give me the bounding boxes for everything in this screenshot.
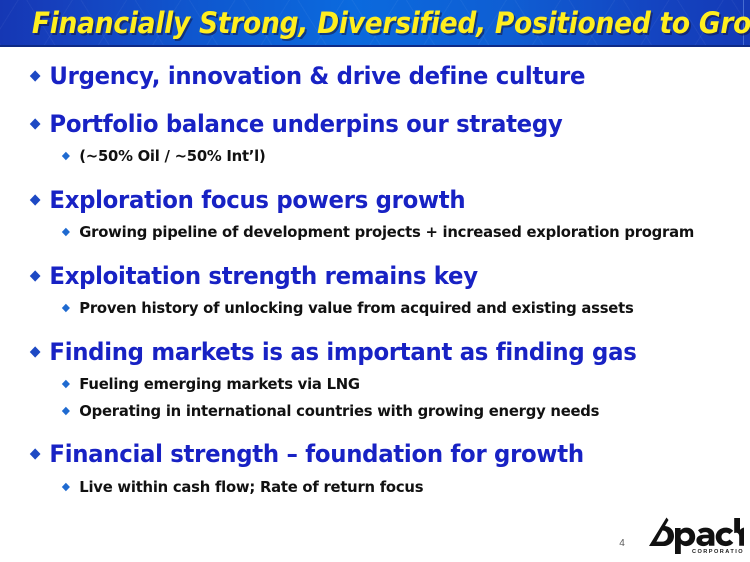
bullet-level2-label: (~50% Oil / ~50% Int’l) <box>79 147 265 165</box>
diamond-subbullet-icon <box>62 152 70 160</box>
bullet-level2: Live within cash flow; Rate of return fo… <box>0 476 716 498</box>
diamond-bullet-icon <box>30 118 41 129</box>
apache-corporation-logo: CORPORATION <box>646 516 744 556</box>
slide: Financially Strong, Diversified, Positio… <box>0 0 750 562</box>
bullet-level2-label: Fueling emerging markets via LNG <box>79 375 360 393</box>
page-title: Financially Strong, Diversified, Positio… <box>32 3 718 43</box>
bullet-group: Urgency, innovation & drive define cultu… <box>0 61 750 91</box>
bullet-level2-label: Proven history of unlocking value from a… <box>79 299 633 317</box>
bullet-level1-label: Financial strength – foundation for grow… <box>49 440 583 468</box>
bullet-level1: Portfolio balance underpins our strategy <box>0 109 713 139</box>
diamond-subbullet-icon <box>62 228 70 236</box>
bullet-level1-label: Urgency, innovation & drive define cultu… <box>49 62 585 90</box>
bullet-group: Financial strength – foundation for grow… <box>0 439 750 498</box>
bullet-level2: Fueling emerging markets via LNG <box>0 373 716 395</box>
bullet-group: Exploration focus powers growth Growing … <box>0 185 750 243</box>
diamond-subbullet-icon <box>62 380 70 388</box>
bullet-list: Urgency, innovation & drive define cultu… <box>0 47 750 498</box>
diamond-bullet-icon <box>30 194 41 205</box>
bullet-level2-label: Live within cash flow; Rate of return fo… <box>79 478 423 496</box>
diamond-subbullet-icon <box>62 483 70 491</box>
diamond-subbullet-icon <box>62 407 70 415</box>
bullet-level1-label: Exploration focus powers growth <box>49 186 465 214</box>
bullet-level1: Finding markets is as important as findi… <box>0 337 713 367</box>
bullet-level2-label: Growing pipeline of development projects… <box>79 223 694 241</box>
bullet-level2: Proven history of unlocking value from a… <box>0 297 716 319</box>
bullet-group: Finding markets is as important as findi… <box>0 337 750 422</box>
bullet-level1: Urgency, innovation & drive define cultu… <box>0 61 713 91</box>
bullet-group: Portfolio balance underpins our strategy… <box>0 109 750 167</box>
bullet-level1: Financial strength – foundation for grow… <box>0 439 713 469</box>
bullet-level1: Exploration focus powers growth <box>0 185 713 215</box>
bullet-group: Exploitation strength remains key Proven… <box>0 261 750 319</box>
diamond-bullet-icon <box>30 448 41 459</box>
page-number: 4 <box>612 538 632 549</box>
logo-subtext: CORPORATION <box>692 549 744 555</box>
bullet-level1-label: Exploitation strength remains key <box>49 262 477 290</box>
bullet-level1-label: Portfolio balance underpins our strategy <box>49 110 562 138</box>
bullet-level1-label: Finding markets is as important as findi… <box>49 338 636 366</box>
bullet-level2: (~50% Oil / ~50% Int’l) <box>0 145 716 167</box>
bullet-level2: Growing pipeline of development projects… <box>0 221 716 243</box>
bullet-level2-label: Operating in international countries wit… <box>79 402 599 420</box>
title-banner: Financially Strong, Diversified, Positio… <box>0 0 750 47</box>
diamond-bullet-icon <box>30 346 41 357</box>
bullet-level2: Operating in international countries wit… <box>0 400 716 422</box>
diamond-bullet-icon <box>30 70 41 81</box>
diamond-subbullet-icon <box>62 304 70 312</box>
diamond-bullet-icon <box>30 270 41 281</box>
bullet-level1: Exploitation strength remains key <box>0 261 713 291</box>
